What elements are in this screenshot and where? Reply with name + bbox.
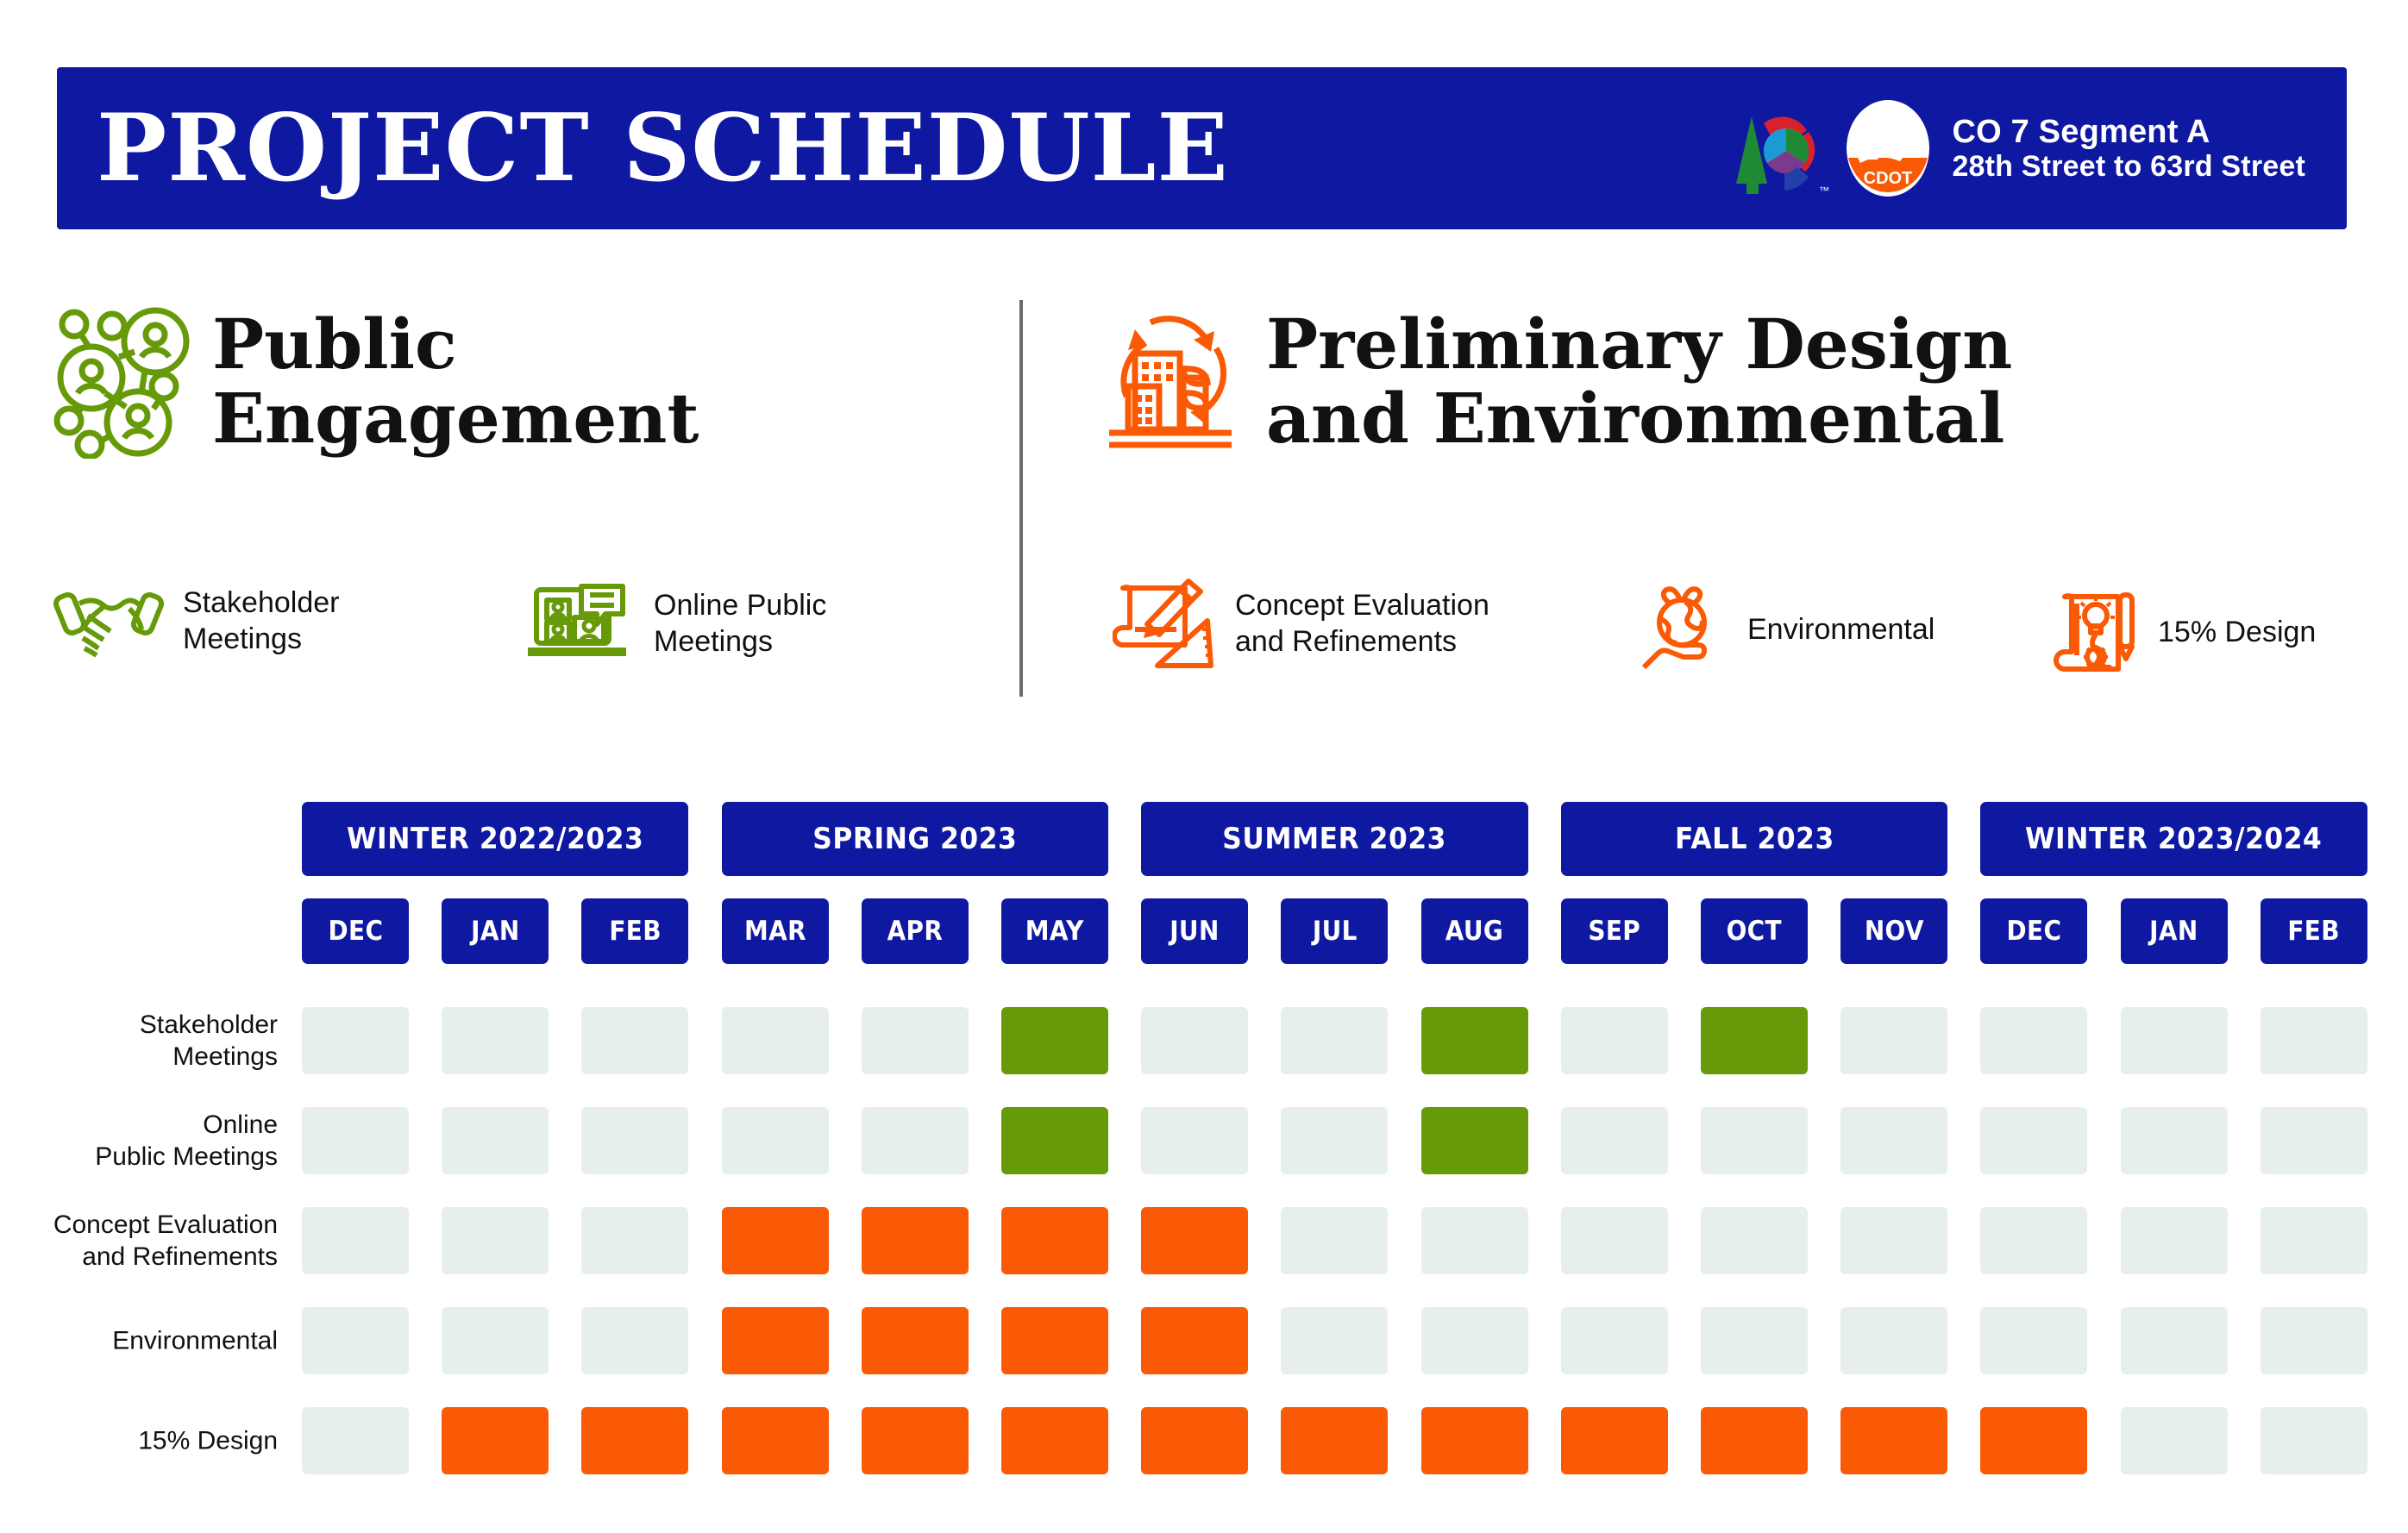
schedule-cell-empty (581, 1207, 688, 1274)
schedule-cell-empty (1281, 1107, 1388, 1174)
category-title-line2: and Environmental (1266, 381, 2012, 455)
category-title-public-engagement: Public Engagement (212, 307, 699, 456)
schedule-cell-empty (442, 1207, 549, 1274)
schedule-cell-active (1281, 1407, 1388, 1474)
schedule-cell-empty (1840, 1307, 1947, 1374)
schedule-cell-empty (2261, 1407, 2367, 1474)
schedule-cell-empty (302, 1207, 409, 1274)
schedule-cell-empty (1701, 1107, 1808, 1174)
schedule-cell-empty (2121, 1407, 2228, 1474)
schedule-cell-active (722, 1407, 829, 1474)
schedule-cell-empty (1701, 1207, 1808, 1274)
schedule-cell-active (1001, 1007, 1108, 1074)
schedule-cell-active (1001, 1207, 1108, 1274)
schedule-cell-empty (722, 1007, 829, 1074)
schedule-row-label: Stakeholder Meetings (0, 1009, 278, 1073)
legend-label-line1: Concept Evaluation (1235, 587, 1489, 624)
category-title-line2: Engagement (212, 381, 699, 455)
schedule-cell-empty (1561, 1207, 1668, 1274)
month-header: AUG (1421, 898, 1528, 964)
month-header: JUL (1281, 898, 1388, 964)
month-label: FEB (609, 916, 661, 947)
schedule-cell-empty (2261, 1007, 2367, 1074)
schedule-cell-active (581, 1407, 688, 1474)
schedule-cell-empty (1980, 1207, 2087, 1274)
schedule-cell-empty (581, 1307, 688, 1374)
schedule-cell-active (1421, 1407, 1528, 1474)
schedule-cell-empty (1141, 1007, 1248, 1074)
schedule-cell-active (1701, 1007, 1808, 1074)
season-header-row: WINTER 2022/2023SPRING 2023SUMMER 2023FA… (0, 802, 2408, 876)
season-header: WINTER 2023/2024 (1980, 802, 2367, 876)
month-header: MAR (722, 898, 829, 964)
legend-label-line1: Environmental (1747, 611, 1935, 648)
category-preliminary-design: Preliminary Design and Environmental (1097, 303, 2012, 459)
category-title-line1: Preliminary Design (1266, 307, 2012, 381)
schedule-cell-empty (2261, 1307, 2367, 1374)
schedule-cell-empty (442, 1307, 549, 1374)
schedule-cell-empty (1840, 1107, 1947, 1174)
blueprint-lightbulb-gear-icon (2053, 585, 2139, 679)
category-public-engagement: Public Engagement (52, 303, 699, 459)
schedule-cell-empty (302, 1307, 409, 1374)
month-label: JUN (1170, 916, 1219, 947)
month-label: DEC (328, 916, 383, 947)
legend-label: Stakeholder Meetings (183, 585, 339, 658)
brand-segment-extent: 28th Street to 63rd Street (1952, 150, 2305, 183)
schedule-cell-active (722, 1307, 829, 1374)
schedule-cell-empty (1561, 1307, 1668, 1374)
month-header: FEB (581, 898, 688, 964)
schedule-cell-empty (1561, 1107, 1668, 1174)
schedule-cell-empty (1281, 1207, 1388, 1274)
month-header: MAY (1001, 898, 1108, 964)
month-label: APR (887, 916, 943, 947)
legend-item-online-public-meetings: Online Public Meetings (524, 579, 826, 667)
legend-label-line2: and Refinements (1235, 623, 1489, 660)
buildings-recycle-icon (1097, 303, 1244, 459)
logo-group: ™ CDOT (1729, 97, 1933, 199)
category-title-line1: Public (212, 307, 699, 381)
schedule-cell-empty (1840, 1007, 1947, 1074)
schedule-cell-empty (1141, 1107, 1248, 1174)
schedule-cell-active (862, 1307, 969, 1374)
schedule-cell-empty (862, 1007, 969, 1074)
schedule-row: Concept Evaluation and Refinements (0, 1207, 2408, 1274)
page-title: PROJECT SCHEDULE (97, 102, 1229, 195)
legend-label-line1: 15% Design (2158, 614, 2316, 651)
month-header: DEC (1980, 898, 2087, 964)
schedule-cell-active (1701, 1407, 1808, 1474)
month-label: MAR (744, 916, 806, 947)
month-header: SEP (1561, 898, 1668, 964)
cdot-logo-icon: CDOT (1843, 97, 1933, 199)
schedule-cell-empty (2121, 1207, 2228, 1274)
schedule-cell-empty (302, 1007, 409, 1074)
month-label: SEP (1588, 916, 1640, 947)
schedule-cell-active (1001, 1107, 1108, 1174)
network-people-icon (52, 303, 190, 459)
schedule-cell-empty (2261, 1207, 2367, 1274)
legend-item-stakeholder-meetings: Stakeholder Meetings (53, 579, 339, 662)
schedule-cell-empty (1980, 1007, 2087, 1074)
schedule-cell-active (1421, 1007, 1528, 1074)
schedule-cell-empty (1421, 1307, 1528, 1374)
month-label: JAN (471, 916, 519, 947)
handshake-icon (53, 579, 164, 662)
colorado-co-logo-icon: ™ (1729, 97, 1834, 199)
season-label: SUMMER 2023 (1223, 822, 1447, 856)
legend-item-environmental: Environmental (1639, 585, 1935, 674)
schedule-row: Environmental (0, 1307, 2408, 1374)
month-header: DEC (302, 898, 409, 964)
hand-globe-icon (1639, 585, 1728, 674)
schedule-cell-empty (2121, 1107, 2228, 1174)
legend-item-15-percent-design: 15% Design (2053, 585, 2316, 679)
month-label: NOV (1865, 916, 1924, 947)
month-label: DEC (2006, 916, 2061, 947)
svg-text:CDOT: CDOT (1864, 169, 1913, 188)
schedule-cell-empty (442, 1007, 549, 1074)
schedule-cell-empty (2121, 1307, 2228, 1374)
schedule-cell-empty (1281, 1307, 1388, 1374)
season-header: FALL 2023 (1561, 802, 1947, 876)
schedule-cell-active (1141, 1407, 1248, 1474)
page-header: PROJECT SCHEDULE ™ (57, 67, 2347, 229)
schedule-cell-empty (1561, 1007, 1668, 1074)
legend-label: 15% Design (2158, 614, 2316, 651)
schedule-cell-active (1001, 1307, 1108, 1374)
schedule-cell-empty (1840, 1207, 1947, 1274)
schedule-cell-empty (2261, 1107, 2367, 1174)
month-label: OCT (1727, 916, 1782, 947)
season-header: WINTER 2022/2023 (302, 802, 688, 876)
season-header: SPRING 2023 (722, 802, 1108, 876)
schedule-row: 15% Design (0, 1407, 2408, 1474)
schedule-cell-empty (442, 1107, 549, 1174)
schedule-cell-active (1980, 1407, 2087, 1474)
month-header: APR (862, 898, 969, 964)
schedule-cell-empty (1980, 1107, 2087, 1174)
month-label: AUG (1445, 916, 1503, 947)
schedule-cell-active (1561, 1407, 1668, 1474)
schedule-cell-active (442, 1407, 549, 1474)
schedule-cell-empty (1980, 1307, 2087, 1374)
month-header: OCT (1701, 898, 1808, 964)
month-header: JAN (2121, 898, 2228, 964)
month-header: FEB (2261, 898, 2367, 964)
schedule-cell-empty (862, 1107, 969, 1174)
schedule-row: Online Public Meetings (0, 1107, 2408, 1174)
schedule-cell-active (862, 1207, 969, 1274)
legend-label-line1: Stakeholder (183, 585, 339, 622)
schedule-row-label: 15% Design (0, 1424, 278, 1456)
legend-label: Online Public Meetings (654, 587, 826, 660)
schedule-cell-empty (581, 1107, 688, 1174)
schedule-cell-empty (581, 1007, 688, 1074)
blueprint-pencil-ruler-icon (1113, 576, 1216, 671)
month-label: MAY (1025, 916, 1084, 947)
schedule-cell-empty (302, 1107, 409, 1174)
season-label: SPRING 2023 (812, 822, 1017, 856)
schedule-cell-active (862, 1407, 969, 1474)
legend-label: Environmental (1747, 611, 1935, 648)
schedule-cell-active (1421, 1107, 1528, 1174)
season-label: FALL 2023 (1675, 822, 1834, 856)
schedule-row: Stakeholder Meetings (0, 1007, 2408, 1074)
timeline-header: WINTER 2022/2023SPRING 2023SUMMER 2023FA… (0, 802, 2408, 964)
schedule-cell-active (1141, 1307, 1248, 1374)
schedule-cell-active (1141, 1207, 1248, 1274)
schedule-grid: Stakeholder MeetingsOnline Public Meetin… (0, 1007, 2408, 1507)
schedule-cell-empty (1701, 1307, 1808, 1374)
schedule-row-label: Environmental (0, 1324, 278, 1356)
month-label: JUL (1312, 916, 1357, 947)
schedule-cell-empty (2121, 1007, 2228, 1074)
legend-label-line2: Meetings (654, 623, 826, 660)
season-label: WINTER 2022/2023 (347, 822, 643, 856)
month-header-row: DECJANFEBMARAPRMAYJUNJULAUGSEPOCTNOVDECJ… (0, 898, 2408, 964)
month-header: JAN (442, 898, 549, 964)
schedule-cell-active (1840, 1407, 1947, 1474)
month-label: JAN (2149, 916, 2198, 947)
schedule-row-label: Concept Evaluation and Refinements (0, 1209, 278, 1273)
legend-label-line2: Meetings (183, 621, 339, 658)
legend-item-concept-evaluation: Concept Evaluation and Refinements (1113, 576, 1489, 671)
category-title-preliminary-design: Preliminary Design and Environmental (1266, 307, 2012, 456)
schedule-row-label: Online Public Meetings (0, 1109, 278, 1173)
season-label: WINTER 2023/2024 (2025, 822, 2322, 856)
schedule-cell-empty (1281, 1007, 1388, 1074)
laptop-video-meeting-icon (524, 579, 635, 667)
month-header: JUN (1141, 898, 1248, 964)
legend-label-line1: Online Public (654, 587, 826, 624)
month-header: NOV (1840, 898, 1947, 964)
brand-segment-name: CO 7 Segment A (1952, 114, 2305, 151)
svg-text:™: ™ (1819, 185, 1829, 197)
schedule-cell-active (722, 1207, 829, 1274)
month-label: FEB (2288, 916, 2340, 947)
season-header: SUMMER 2023 (1141, 802, 1527, 876)
legend-label: Concept Evaluation and Refinements (1235, 587, 1489, 660)
schedule-cell-empty (722, 1107, 829, 1174)
section-divider (1019, 300, 1023, 697)
brand-text: CO 7 Segment A 28th Street to 63rd Stree… (1952, 114, 2305, 184)
brand-block: ™ CDOT CO 7 Segment A 28th Street to 63r… (1729, 97, 2305, 199)
schedule-cell-active (1001, 1407, 1108, 1474)
schedule-cell-empty (1421, 1207, 1528, 1274)
schedule-cell-empty (302, 1407, 409, 1474)
